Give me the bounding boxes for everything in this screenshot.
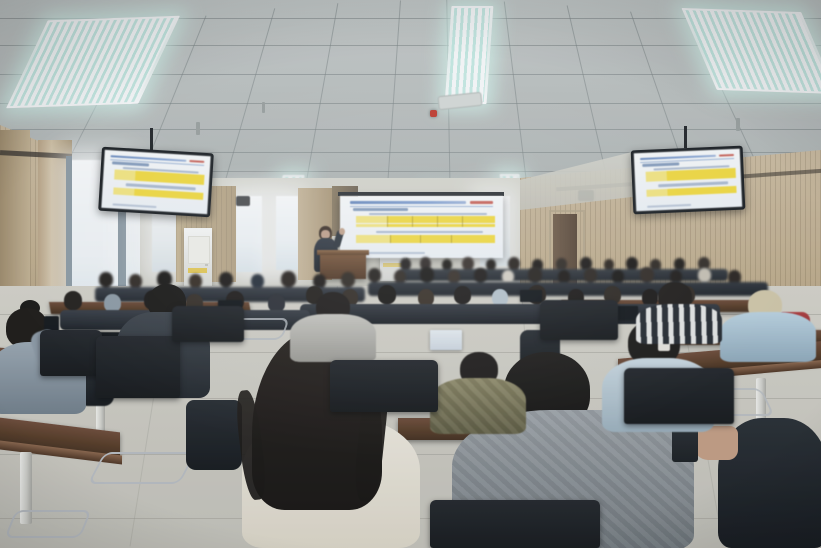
laptop <box>430 330 462 350</box>
student-torso <box>430 378 526 434</box>
chair <box>40 330 102 376</box>
student-head <box>454 286 471 304</box>
lecture-hall-photo <box>0 0 821 548</box>
chair <box>172 306 244 342</box>
student-torso <box>636 304 722 344</box>
chair <box>430 500 600 548</box>
student-torso <box>720 312 816 362</box>
student-pale-blue-jacket <box>720 290 816 358</box>
slide-subtitle <box>353 208 408 211</box>
wall-speaker <box>236 196 250 206</box>
slide-footnote <box>112 203 157 208</box>
table-caption-upper <box>369 213 486 215</box>
chair <box>540 300 618 340</box>
sprinkler-head <box>736 118 740 131</box>
sprinkler-head <box>196 122 200 135</box>
slide-accent-tag <box>719 154 734 157</box>
slide-accent-tag <box>470 201 493 204</box>
chair <box>96 336 180 398</box>
presenter-hand <box>339 228 345 235</box>
slide-footnote <box>647 203 692 207</box>
student-olive-plaid <box>430 352 526 426</box>
sprinkler-head <box>262 102 265 113</box>
fire-alarm <box>430 110 437 117</box>
slide-title <box>640 154 716 160</box>
slide-subtitle <box>643 162 679 166</box>
slide-table-upper <box>356 216 495 227</box>
student-head <box>378 285 396 304</box>
slide-table-lower <box>356 235 495 243</box>
slide-title-row <box>350 199 493 207</box>
backpack <box>186 400 242 470</box>
front-window <box>276 196 298 270</box>
chair-sled-base <box>4 510 91 538</box>
podium-top <box>317 250 369 255</box>
chair <box>624 368 734 424</box>
student-striped-sleeve <box>636 282 722 336</box>
ceiling-lamp <box>681 8 821 94</box>
right-wall-monitor[interactable] <box>631 146 746 215</box>
laptop <box>520 290 542 302</box>
student-torso <box>290 314 376 362</box>
projection-screen <box>340 196 503 258</box>
whiteboard-panel <box>188 236 210 264</box>
left-wall-monitor[interactable] <box>98 147 214 218</box>
chair-sled-base <box>87 452 196 484</box>
ceiling-lamp <box>6 16 180 108</box>
slide-title-row <box>640 152 734 163</box>
slide-title <box>350 201 466 204</box>
chair <box>330 360 438 412</box>
front-window <box>236 196 262 272</box>
ceiling-lamp <box>445 6 494 104</box>
right-monitor-pole <box>684 126 687 148</box>
slide-accent-tag <box>189 160 204 164</box>
table-caption-lower <box>376 231 484 233</box>
slide-table-lower <box>646 185 736 196</box>
student-grey-hoodie <box>290 292 376 356</box>
